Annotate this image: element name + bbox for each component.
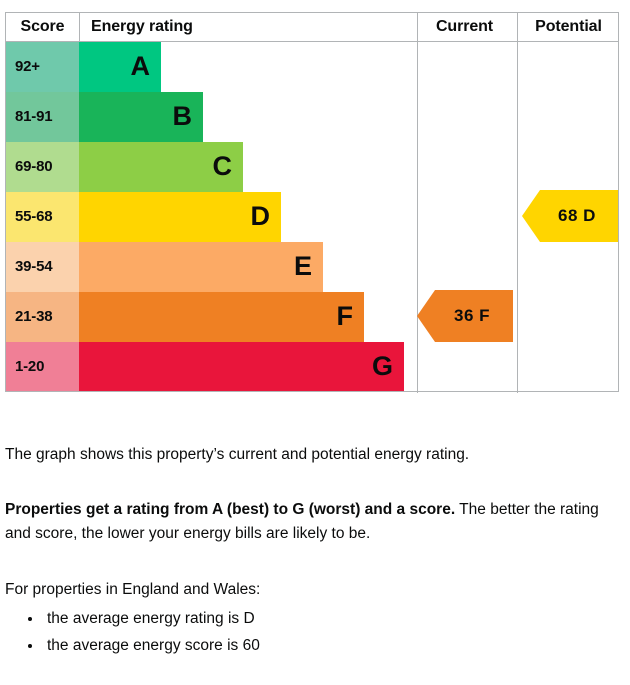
band-letter-e: E: [294, 242, 312, 292]
band-row-c: 69-80C: [6, 142, 618, 192]
band-bar-b: B: [79, 92, 203, 142]
band-row-empty-area: [243, 142, 618, 192]
band-row-e: 39-54E: [6, 242, 618, 292]
band-row-f: 21-38F: [6, 292, 618, 342]
band-letter-f: F: [337, 292, 354, 342]
band-bar-c: C: [79, 142, 243, 192]
band-row-b: 81-91B: [6, 92, 618, 142]
rating-explanation-bold: Properties get a rating from A (best) to…: [5, 501, 455, 518]
potential-rating-arrow: 68 D: [522, 190, 618, 242]
band-bar-d: D: [79, 192, 281, 242]
band-row-empty-area: [404, 342, 618, 392]
band-row-empty-area: [161, 42, 618, 92]
band-letter-d: D: [251, 192, 271, 242]
band-letter-a: A: [131, 42, 151, 92]
chart-header-row: Score Energy rating Current Potential: [6, 13, 618, 42]
column-header-potential: Potential: [518, 13, 619, 41]
band-score-range-a: 92+: [6, 42, 79, 92]
list-item: the average energy score is 60: [43, 632, 619, 659]
band-row-g: 1-20G: [6, 342, 618, 392]
band-letter-b: B: [173, 92, 193, 142]
column-header-score: Score: [6, 13, 79, 41]
band-bar-e: E: [79, 242, 323, 292]
energy-rating-chart: Score Energy rating Current Potential 92…: [5, 12, 619, 392]
column-divider-current: [417, 13, 418, 393]
column-divider-potential: [517, 13, 518, 393]
band-score-range-f: 21-38: [6, 292, 79, 342]
band-score-range-g: 1-20: [6, 342, 79, 392]
rating-explanation-paragraph: Properties get a rating from A (best) to…: [5, 498, 619, 546]
band-score-range-e: 39-54: [6, 242, 79, 292]
band-score-range-c: 69-80: [6, 142, 79, 192]
intro-paragraph: The graph shows this property’s current …: [5, 443, 619, 467]
list-item: the average energy rating is D: [43, 605, 619, 632]
region-heading: For properties in England and Wales:: [5, 578, 619, 602]
band-row-empty-area: [203, 92, 618, 142]
chart-bottom-border: [5, 391, 619, 392]
band-bar-f: F: [79, 292, 364, 342]
band-score-range-d: 55-68: [6, 192, 79, 242]
band-letter-c: C: [213, 142, 233, 192]
band-bar-a: A: [79, 42, 161, 92]
regional-averages-list: the average energy rating is Dthe averag…: [5, 605, 619, 659]
band-row-a: 92+A: [6, 42, 618, 92]
band-row-empty-area: [323, 242, 618, 292]
current-rating-arrow: 36 F: [417, 290, 513, 342]
band-letter-g: G: [372, 342, 393, 392]
column-header-energy-rating: Energy rating: [80, 13, 193, 41]
band-bar-g: G: [79, 342, 404, 392]
band-score-range-b: 81-91: [6, 92, 79, 142]
column-header-current: Current: [412, 13, 517, 41]
column-divider-score: [79, 13, 80, 42]
